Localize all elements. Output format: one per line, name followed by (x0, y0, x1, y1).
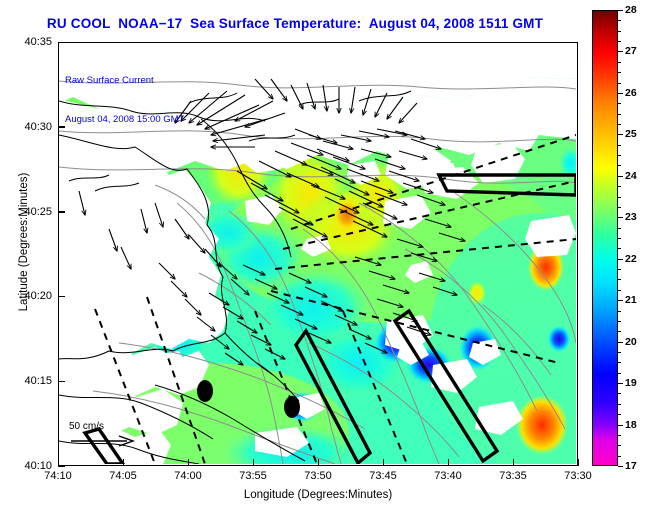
colorbar-tick-label: 17 (625, 460, 637, 472)
x-tick (318, 459, 320, 466)
colorbar-minor-tick (618, 83, 621, 84)
colorbar-minor-tick (618, 373, 621, 374)
annotation-line-2: August 04, 2008 15:00 GMT (65, 113, 184, 126)
colorbar-minor-tick (618, 279, 621, 280)
colorbar-minor-tick (618, 186, 621, 187)
colorbar-tick (618, 466, 623, 467)
colorbar-minor-tick (618, 414, 621, 415)
x-tick (123, 459, 125, 466)
x-tick-label: 73:50 (304, 470, 332, 482)
colorbar-tick-label: 27 (625, 45, 637, 57)
annotation-line-1: Raw Surface Current (65, 74, 184, 87)
current-annotation: Raw Surface Current August 04, 2008 15:0… (65, 48, 184, 152)
colorbar-tick-label: 18 (625, 419, 637, 431)
colorbar-tick-label: 26 (625, 87, 637, 99)
colorbar-minor-tick (618, 404, 621, 405)
colorbar-minor-tick (618, 331, 621, 332)
y-tick (58, 466, 65, 468)
colorbar-tick-label: 20 (625, 336, 637, 348)
colorbar-minor-tick (618, 72, 621, 73)
colorbar-minor-tick (618, 290, 621, 291)
colorbar-tick-label: 22 (625, 253, 637, 265)
x-axis-label: Longitude (Degrees:Minutes) (58, 489, 578, 501)
arrow-right-icon (69, 434, 139, 448)
colorbar-tick (618, 383, 623, 384)
sst-map-figure: RU COOL NOAA−17 Sea Surface Temperature:… (0, 0, 651, 518)
colorbar-minor-tick (618, 311, 621, 312)
map-plot-area: Raw Surface Current August 04, 2008 15:0… (58, 42, 578, 466)
colorbar-minor-tick (618, 456, 621, 457)
scale-legend-label: 50 cm/s (69, 421, 161, 432)
colorbar-minor-tick (618, 103, 621, 104)
colorbar-minor-tick (618, 207, 621, 208)
x-tick (383, 459, 385, 466)
colorbar-tick (618, 342, 623, 343)
colorbar-tick-label: 19 (625, 377, 637, 389)
y-tick (58, 296, 65, 298)
colorbar-tick (618, 93, 623, 94)
colorbar-tick (618, 10, 623, 11)
colorbar-tick-label: 25 (625, 128, 637, 140)
colorbar-minor-tick (618, 114, 621, 115)
x-tick-label: 73:55 (239, 470, 267, 482)
x-tick (253, 459, 255, 466)
x-tick-label: 74:05 (109, 470, 137, 482)
y-axis-label: Latitude (Degrees:Minutes) (18, 132, 30, 352)
figure-title: RU COOL NOAA−17 Sea Surface Temperature:… (0, 16, 590, 31)
colorbar-minor-tick (618, 228, 621, 229)
colorbar-minor-tick (618, 435, 621, 436)
colorbar (592, 10, 618, 466)
colorbar-minor-tick (618, 248, 621, 249)
colorbar-minor-tick (618, 165, 621, 166)
colorbar-minor-tick (618, 238, 621, 239)
y-tick-label: 40:15 (24, 375, 52, 387)
y-tick-label: 40:30 (24, 121, 52, 133)
colorbar-tick (618, 300, 623, 301)
colorbar-minor-tick (618, 20, 621, 21)
x-tick-label: 74:00 (174, 470, 202, 482)
colorbar-ticks: 171819202122232425262728 (618, 10, 626, 466)
colorbar-minor-tick (618, 321, 621, 322)
colorbar-minor-tick (618, 41, 621, 42)
x-tick-label: 73:40 (434, 470, 462, 482)
colorbar-minor-tick (618, 352, 621, 353)
colorbar-tick (618, 176, 623, 177)
x-tick-label: 73:45 (369, 470, 397, 482)
x-tick (448, 459, 450, 466)
colorbar-tick (618, 425, 623, 426)
colorbar-minor-tick (618, 393, 621, 394)
colorbar-minor-tick (618, 362, 621, 363)
velocity-scale-legend: 50 cm/s (69, 421, 161, 455)
colorbar-minor-tick (618, 31, 621, 32)
colorbar-minor-tick (618, 445, 621, 446)
colorbar-tick (618, 134, 623, 135)
colorbar-tick-label: 24 (625, 170, 637, 182)
colorbar-minor-tick (618, 269, 621, 270)
y-tick-label: 40:35 (24, 36, 52, 48)
colorbar-tick (618, 259, 623, 260)
colorbar-minor-tick (618, 155, 621, 156)
x-tick (188, 459, 190, 466)
colorbar-minor-tick (618, 124, 621, 125)
y-tick-label: 40:10 (24, 460, 52, 472)
y-tick (58, 126, 65, 128)
colorbar-tick (618, 51, 623, 52)
x-tick (578, 459, 580, 466)
colorbar-minor-tick (618, 197, 621, 198)
x-tick-label: 73:35 (499, 470, 527, 482)
colorbar-tick (618, 217, 623, 218)
colorbar-minor-tick (618, 62, 621, 63)
colorbar-tick-label: 28 (625, 4, 637, 16)
colorbar-tick-label: 23 (625, 211, 637, 223)
colorbar-tick-label: 21 (625, 294, 637, 306)
colorbar-minor-tick (618, 145, 621, 146)
y-tick (58, 381, 65, 383)
y-tick (58, 42, 65, 44)
x-tick-label: 73:30 (564, 470, 592, 482)
x-tick (513, 459, 515, 466)
y-tick (58, 211, 65, 213)
